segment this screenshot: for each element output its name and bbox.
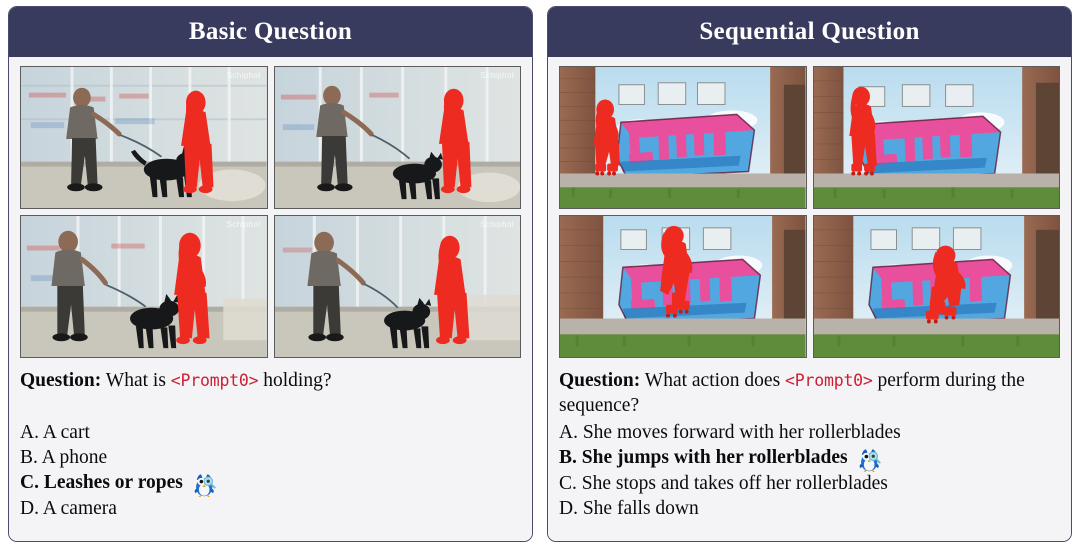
options-basic: A. A cart B. A phone C. Leashes or ropes: [20, 421, 521, 522]
question-label-sequential: Question:: [559, 370, 640, 391]
question-basic: Question: What is <Prompt0> holding?: [20, 369, 521, 394]
prompt-token-basic: <Prompt0>: [171, 371, 259, 390]
option-basic-a[interactable]: A. A cart: [20, 421, 521, 446]
panel-body-sequential: Question: What action does <Prompt0> per…: [548, 57, 1071, 541]
options-sequential: A. She moves forward with her rollerblad…: [559, 421, 1060, 522]
option-label-basic-a: A. A cart: [20, 421, 90, 446]
option-sequential-a[interactable]: A. She moves forward with her rollerblad…: [559, 421, 1060, 446]
panel-sequential-question: Sequential Question: [547, 6, 1072, 542]
option-basic-d[interactable]: D. A camera: [20, 497, 521, 522]
frame-sequential-3[interactable]: [559, 215, 807, 358]
frame-basic-2[interactable]: Schiphol: [274, 66, 522, 209]
question-sequential: Question: What action does <Prompt0> per…: [559, 369, 1060, 419]
question-spacer-basic: [20, 396, 521, 421]
frame-grid-sequential: [559, 66, 1060, 358]
question-label-basic: Question:: [20, 370, 101, 391]
frame-sequential-1[interactable]: [559, 66, 807, 209]
option-basic-c[interactable]: C. Leashes or ropes: [20, 471, 521, 497]
frame-sequential-4[interactable]: [813, 215, 1061, 358]
question-text-before-basic: What is: [106, 370, 166, 391]
option-label-basic-b: B. A phone: [20, 446, 107, 471]
owl-detective-icon: [192, 471, 218, 497]
qa-block-basic: Question: What is <Prompt0> holding? A. …: [20, 369, 521, 522]
option-sequential-b[interactable]: B. She jumps with her rollerblades: [559, 446, 1060, 472]
prompt-token-sequential: <Prompt0>: [785, 371, 873, 390]
panel-title-sequential: Sequential Question: [548, 7, 1071, 57]
frame-grid-basic: Schiphol: [20, 66, 521, 358]
frame-basic-3[interactable]: Schiphol: [20, 215, 268, 358]
option-label-basic-c: C. Leashes or ropes: [20, 471, 183, 496]
option-basic-b[interactable]: B. A phone: [20, 446, 521, 471]
frame-sequential-2[interactable]: [813, 66, 1061, 209]
option-label-sequential-c: C. She stops and takes off her rollerbla…: [559, 472, 888, 497]
question-text-before-sequential: What action does: [645, 370, 780, 391]
option-label-sequential-d: D. She falls down: [559, 497, 699, 522]
option-label-basic-d: D. A camera: [20, 497, 117, 522]
frame-basic-1[interactable]: Schiphol: [20, 66, 268, 209]
option-label-sequential-a: A. She moves forward with her rollerblad…: [559, 421, 901, 446]
panel-title-basic: Basic Question: [9, 7, 532, 57]
frame-basic-4[interactable]: Schiphol: [274, 215, 522, 358]
option-label-sequential-b: B. She jumps with her rollerblades: [559, 446, 848, 471]
option-sequential-d[interactable]: D. She falls down: [559, 497, 1060, 522]
qa-block-sequential: Question: What action does <Prompt0> per…: [559, 369, 1060, 522]
option-sequential-c[interactable]: C. She stops and takes off her rollerbla…: [559, 472, 1060, 497]
comparison-board: Basic Question: [0, 0, 1080, 548]
question-text-after-basic: holding?: [263, 370, 331, 391]
panel-basic-question: Basic Question: [8, 6, 533, 542]
panel-body-basic: Schiphol: [9, 57, 532, 541]
owl-detective-icon: [857, 446, 883, 472]
